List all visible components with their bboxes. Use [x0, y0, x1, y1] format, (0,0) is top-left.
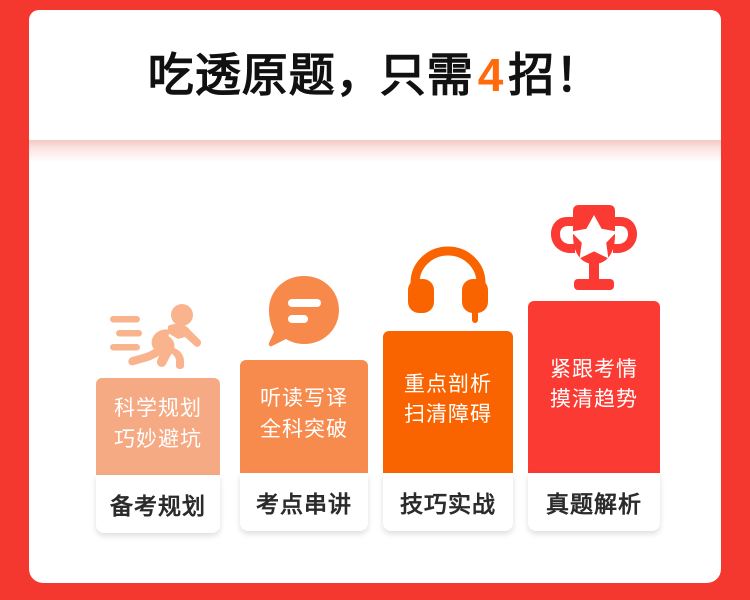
title-number: 4 [474, 49, 509, 101]
speech-bubble-icon [240, 262, 368, 352]
feature-label-4[interactable]: 真题解析 [528, 473, 660, 531]
feature-bar-1: 科学规划 巧妙避坑 [96, 378, 220, 475]
feature-label-2[interactable]: 考点串讲 [240, 473, 368, 531]
title-part-1: 吃透原题 [148, 49, 336, 101]
trophy-icon [528, 196, 660, 293]
title-comma: ， [336, 49, 380, 101]
feature-label-3[interactable]: 技巧实战 [383, 473, 513, 531]
feature-column-4[interactable]: 紧跟考情 摸清趋势 真题解析 [528, 196, 660, 531]
promo-banner: 吃透原题，只需4招！ 科学规划 巧妙避坑 [0, 0, 750, 600]
bar-line-1: 紧跟考情 [550, 355, 638, 385]
headphones-icon [383, 243, 513, 323]
page-title: 吃透原题，只需4招！ [148, 52, 603, 98]
feature-label-1[interactable]: 备考规划 [96, 475, 220, 533]
bar-line-2: 全科突破 [260, 415, 348, 445]
bar-line-1: 重点剖析 [404, 370, 492, 400]
bar-line-2: 摸清趋势 [550, 385, 638, 415]
header-card: 吃透原题，只需4招！ [29, 10, 721, 140]
feature-column-1[interactable]: 科学规划 巧妙避坑 备考规划 [96, 300, 220, 533]
running-person-icon [96, 300, 220, 370]
feature-bar-2: 听读写译 全科突破 [240, 360, 368, 473]
feature-bar-3: 重点剖析 扫清障碍 [383, 331, 513, 473]
title-part-2: 只需 [380, 49, 474, 101]
bar-line-1: 听读写译 [260, 384, 348, 414]
feature-bar-4: 紧跟考情 摸清趋势 [528, 301, 660, 473]
header-glow-divider [29, 140, 721, 162]
title-part-3: 招！ [508, 49, 602, 101]
bar-line-2: 巧妙避坑 [114, 425, 202, 455]
feature-column-3[interactable]: 重点剖析 扫清障碍 技巧实战 [383, 243, 513, 531]
bar-line-1: 科学规划 [114, 394, 202, 424]
feature-column-2[interactable]: 听读写译 全科突破 考点串讲 [240, 262, 368, 531]
bar-line-2: 扫清障碍 [404, 400, 492, 430]
